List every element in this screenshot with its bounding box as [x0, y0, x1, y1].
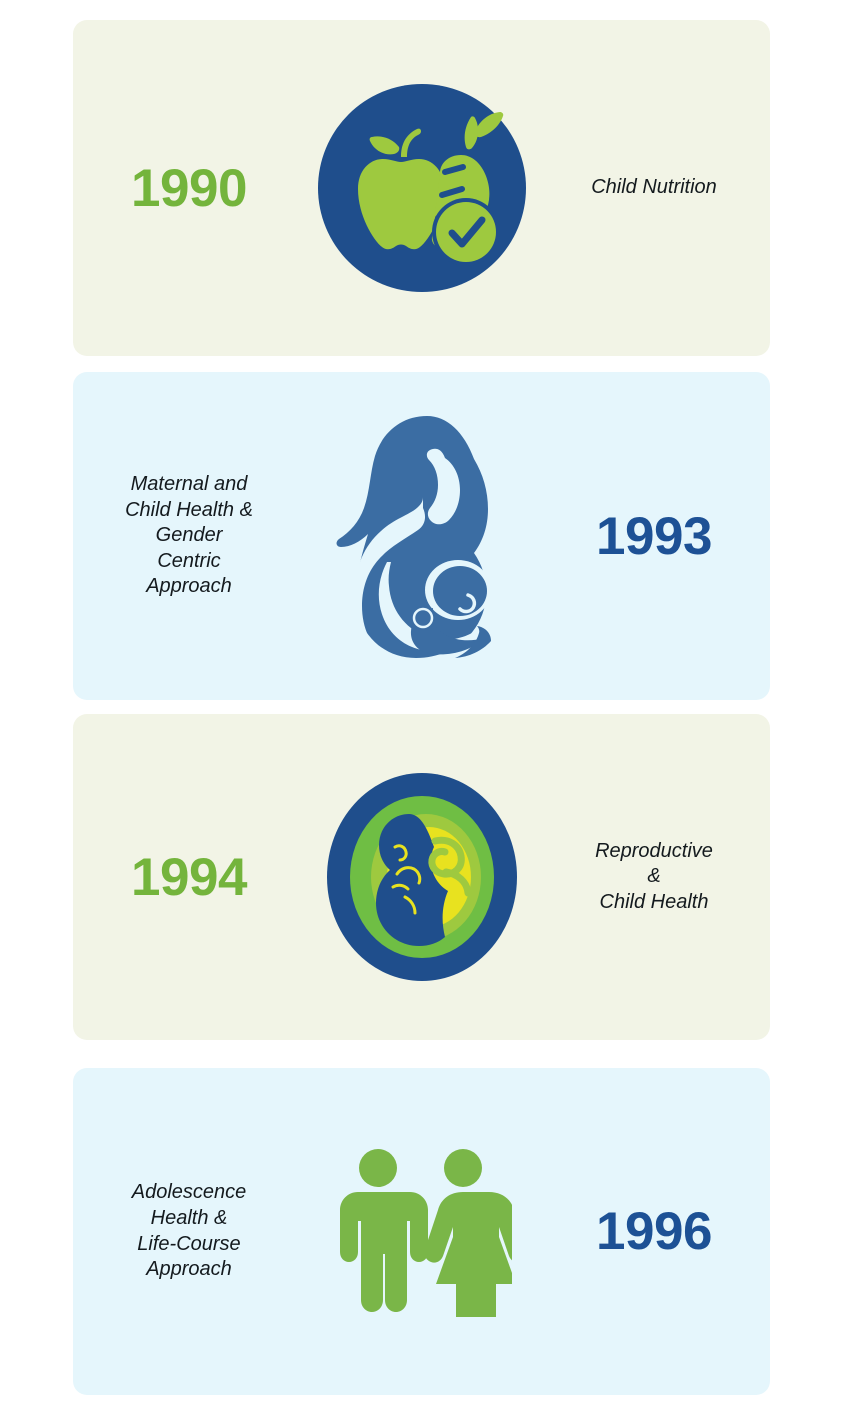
- label-line: Child Health: [600, 891, 709, 913]
- entry-label-1994: Reproductive & Child Health: [587, 839, 721, 916]
- label-line: Adolescence: [132, 1181, 247, 1203]
- fetus-womb-icon: [323, 769, 521, 985]
- timeline-card-1994[interactable]: 1994: [73, 714, 770, 1040]
- timeline-card-1996[interactable]: Adolescence Health & Life-Course Approac…: [73, 1068, 770, 1395]
- label-line: Centric: [157, 550, 220, 572]
- year-label-1993: 1993: [596, 510, 712, 563]
- label-cell-1996: Adolescence Health & Life-Course Approac…: [73, 1068, 305, 1395]
- icon-cell-1994: [305, 714, 538, 1040]
- label-cell-1994: Reproductive & Child Health: [538, 714, 770, 1040]
- label-line: Gender: [156, 524, 223, 546]
- timeline-card-1990[interactable]: 1990: [73, 20, 770, 356]
- label-line: Life-Course: [137, 1233, 240, 1255]
- apple-carrot-nutrition-icon: [311, 77, 533, 299]
- label-line: &: [647, 865, 660, 887]
- man-and-woman-pictogram-icon: [332, 1147, 512, 1317]
- timeline-card-1993[interactable]: Maternal and Child Health & Gender Centr…: [73, 372, 770, 700]
- year-cell-1994: 1994: [73, 714, 305, 1040]
- year-cell-1996: 1996: [538, 1068, 770, 1395]
- timeline-container: 1990: [0, 0, 841, 1407]
- year-cell-1993: 1993: [538, 372, 770, 700]
- label-line: Approach: [146, 1258, 232, 1280]
- label-cell-1990: Child Nutrition: [538, 20, 770, 356]
- icon-cell-1993: [305, 372, 538, 700]
- label-line: Approach: [146, 575, 232, 597]
- entry-label-1996: Adolescence Health & Life-Course Approac…: [124, 1180, 255, 1282]
- label-line: Child Nutrition: [591, 176, 717, 198]
- year-label-1994: 1994: [131, 851, 247, 904]
- mother-and-baby-icon: [327, 412, 517, 660]
- icon-cell-1990: [305, 20, 538, 356]
- label-line: Child Health &: [125, 499, 253, 521]
- icon-cell-1996: [305, 1068, 538, 1395]
- label-cell-1993: Maternal and Child Health & Gender Centr…: [73, 372, 305, 700]
- label-line: Reproductive: [595, 840, 713, 862]
- year-label-1990: 1990: [131, 162, 247, 215]
- entry-label-1993: Maternal and Child Health & Gender Centr…: [117, 472, 261, 600]
- year-label-1996: 1996: [596, 1205, 712, 1258]
- year-cell-1990: 1990: [73, 20, 305, 356]
- entry-label-1990: Child Nutrition: [583, 175, 725, 201]
- label-line: Health &: [151, 1207, 228, 1229]
- label-line: Maternal and: [131, 473, 248, 495]
